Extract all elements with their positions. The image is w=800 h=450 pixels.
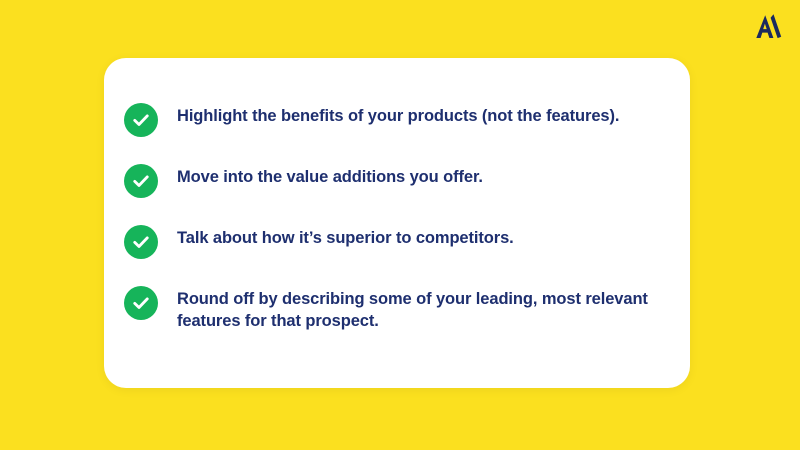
list-item: Round off by describing some of your lea…: [124, 285, 672, 333]
list-item: Talk about how it’s superior to competit…: [124, 224, 672, 259]
check-circle-icon: [124, 164, 158, 198]
list-item-label: Round off by describing some of your lea…: [177, 285, 672, 333]
list-item-label: Move into the value additions you offer.: [177, 163, 483, 189]
check-circle-icon: [124, 286, 158, 320]
list-item-label: Talk about how it’s superior to competit…: [177, 224, 514, 250]
content-card: Highlight the benefits of your products …: [104, 58, 690, 388]
check-circle-icon: [124, 225, 158, 259]
check-circle-icon: [124, 103, 158, 137]
checklist: Highlight the benefits of your products …: [124, 102, 672, 333]
list-item: Move into the value additions you offer.: [124, 163, 672, 198]
list-item: Highlight the benefits of your products …: [124, 102, 672, 137]
slide-canvas: Highlight the benefits of your products …: [0, 0, 800, 450]
mountain-monogram-logo: [753, 11, 783, 41]
list-item-label: Highlight the benefits of your products …: [177, 102, 619, 128]
